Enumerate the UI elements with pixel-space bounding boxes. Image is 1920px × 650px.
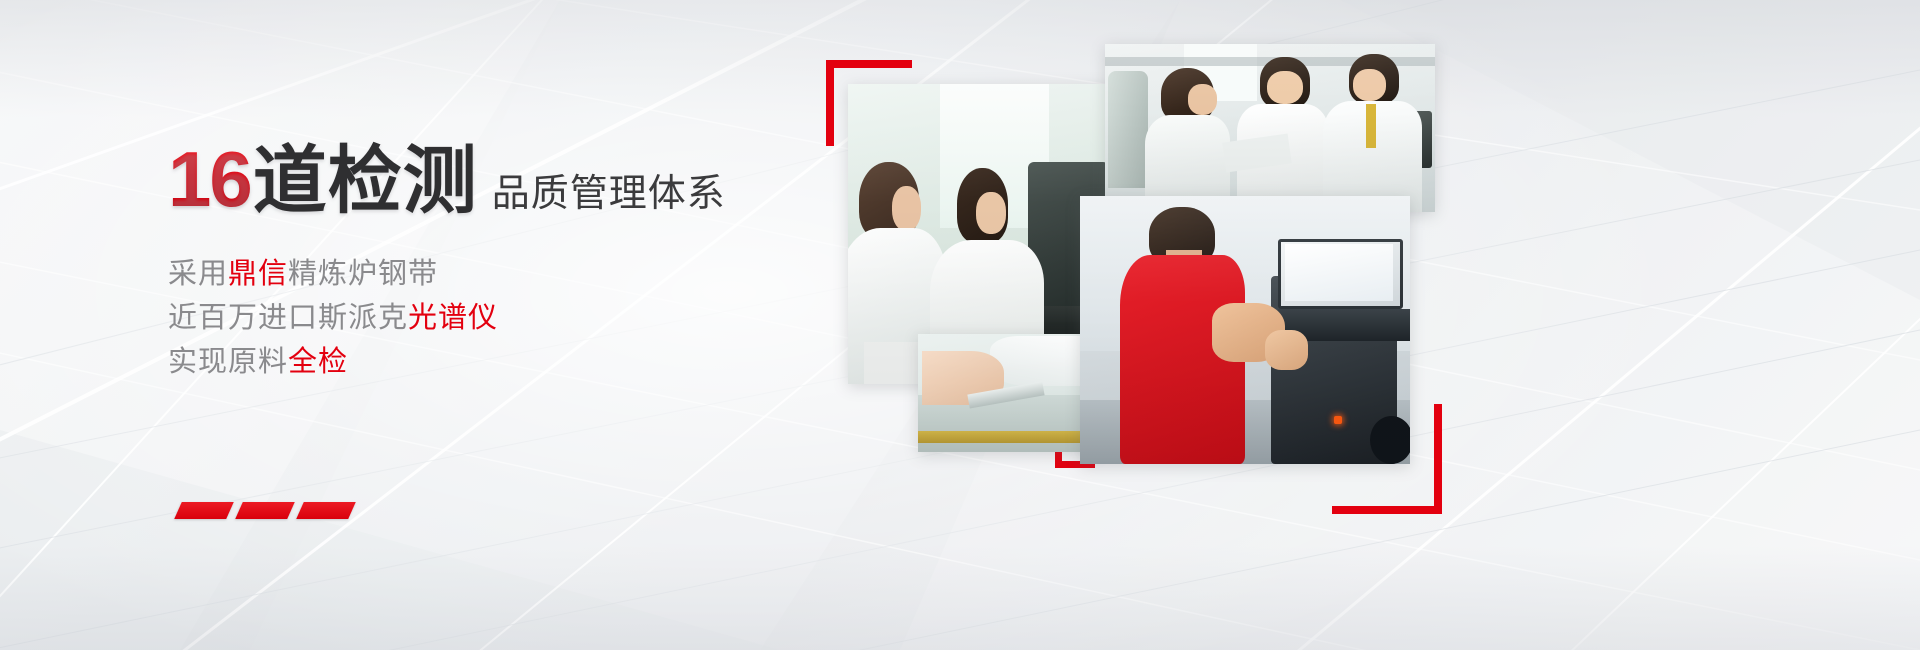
headline-keyword: 道检测: [253, 144, 478, 218]
headline-subtitle: 品质管理体系: [492, 175, 726, 213]
slash-2: [235, 502, 295, 519]
headline-text-block: 16 道检测 品质管理体系 采用鼎信精炼炉钢带 近百万进口斯派克光谱仪 实现原料…: [168, 140, 808, 384]
red-slash-decoration: [178, 502, 352, 519]
photo-caliper-measurement: [918, 334, 1098, 452]
marketing-banner: 16 道检测 品质管理体系 采用鼎信精炼炉钢带 近百万进口斯派克光谱仪 实现原料…: [0, 0, 1920, 650]
slash-3: [296, 502, 356, 519]
headline: 16 道检测 品质管理体系: [168, 140, 808, 218]
photo-inspection-team: [1105, 44, 1435, 212]
feature-line-2-text-before: 近百万进口斯派克: [168, 302, 408, 334]
feature-line-1-text-after: 精炼炉钢带: [288, 258, 438, 290]
photo-collage: [820, 44, 1460, 514]
feature-line-2: 近百万进口斯派克光谱仪: [168, 296, 808, 340]
feature-line-1-text-before: 采用: [168, 258, 228, 290]
feature-line-1-highlight: 鼎信: [228, 258, 288, 290]
headline-number: 16: [168, 140, 251, 218]
feature-line-3-text-before: 实现原料: [168, 346, 288, 378]
feature-line-2-highlight: 光谱仪: [408, 302, 498, 334]
feature-line-list: 采用鼎信精炼炉钢带 近百万进口斯派克光谱仪 实现原料全检: [168, 252, 808, 384]
feature-line-1: 采用鼎信精炼炉钢带: [168, 252, 808, 296]
feature-line-3: 实现原料全检: [168, 340, 808, 384]
feature-line-3-highlight: 全检: [288, 346, 348, 378]
photo-spectrometer-operator: [1080, 196, 1410, 464]
slash-1: [174, 502, 234, 519]
